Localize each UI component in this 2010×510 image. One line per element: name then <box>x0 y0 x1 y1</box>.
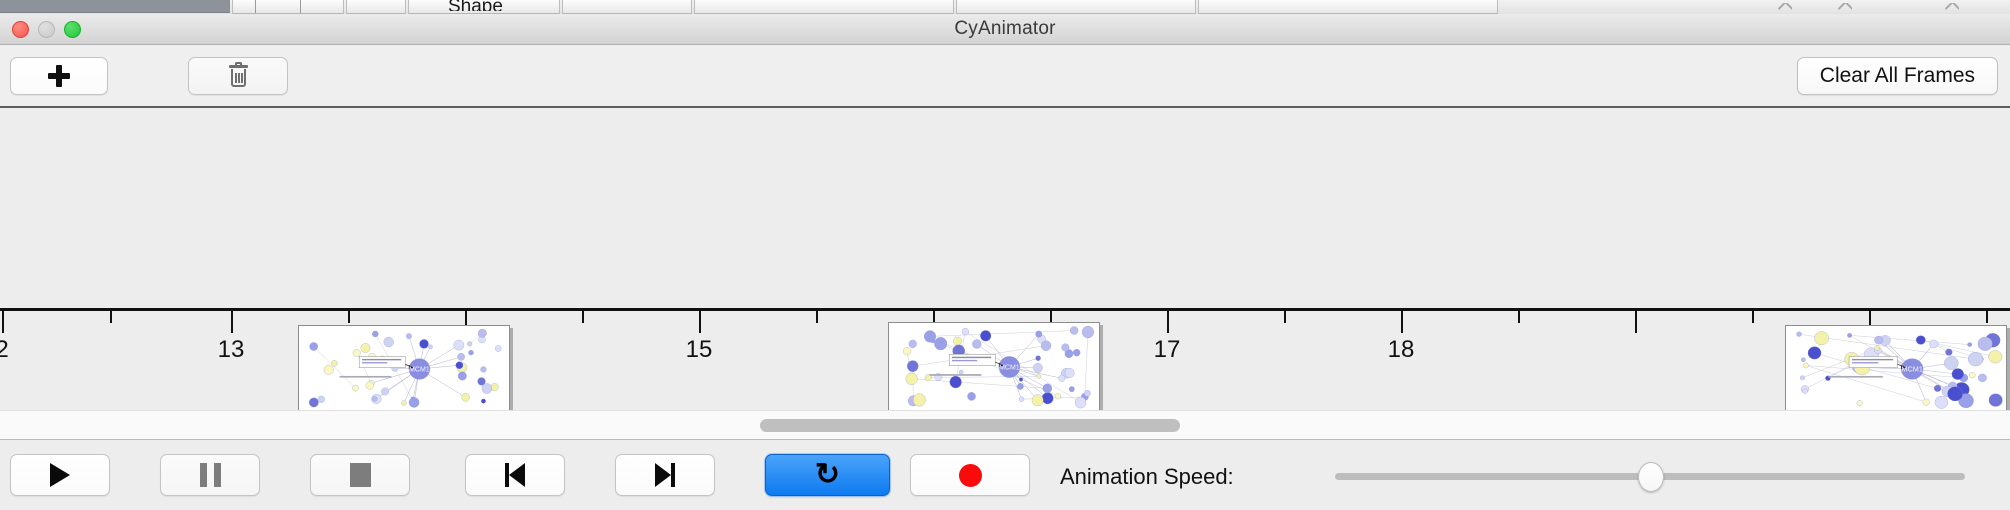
timeline-scrollbar-thumb[interactable] <box>760 419 1180 432</box>
background-arrow-icon <box>1945 3 1959 11</box>
axis-tick-label: 18 <box>1388 336 1415 364</box>
axis-tick-major <box>1167 311 1169 333</box>
timeline-axis <box>0 308 2010 311</box>
background-window-label: Shape <box>448 0 503 11</box>
axis-tick-minor <box>1986 311 1988 323</box>
background-divider <box>255 0 256 13</box>
timeline-frame-thumbnail[interactable]: MCM1 <box>298 325 510 410</box>
add-frame-button[interactable] <box>10 57 108 95</box>
background-window-chip <box>956 0 1196 14</box>
axis-tick-minor <box>348 311 350 323</box>
delete-frame-button[interactable] <box>188 57 288 95</box>
stop-button[interactable] <box>310 454 410 496</box>
background-window-chip <box>562 0 692 14</box>
title-bar: CyAnimator <box>0 14 2010 45</box>
toolbar: Clear All Frames <box>0 46 2010 108</box>
timeline-panel[interactable]: 2131415161718 Seconds MCM1 <box>0 110 2010 410</box>
timeline-frame-thumbnail[interactable]: MCM1 <box>1785 325 2007 410</box>
loop-button[interactable]: ↻ <box>765 454 890 496</box>
axis-tick-label: 2 <box>0 336 9 364</box>
axis-tick-minor <box>816 311 818 323</box>
skip-to-end-button[interactable] <box>615 454 715 496</box>
axis-tick-minor <box>1284 311 1286 323</box>
background-divider <box>300 0 301 13</box>
svg-text:MCM1: MCM1 <box>1901 366 1923 374</box>
record-button[interactable] <box>910 454 1030 496</box>
axis-tick-major <box>1635 311 1637 333</box>
close-button[interactable] <box>12 21 29 38</box>
play-icon <box>50 463 70 487</box>
axis-tick-minor <box>582 311 584 323</box>
background-arrow-icon <box>1838 3 1852 11</box>
loop-icon: ↻ <box>815 460 840 490</box>
minimize-button[interactable] <box>38 21 55 38</box>
window-controls <box>12 14 81 45</box>
axis-tick-major <box>231 311 233 333</box>
axis-tick-major <box>2 311 4 333</box>
animation-speed-slider-thumb[interactable] <box>1638 462 1664 492</box>
axis-tick-major <box>699 311 701 333</box>
axis-tick-major <box>1401 311 1403 333</box>
cyanimator-window: Shape CyAnimator Clear All Frames 21 <box>0 0 2010 510</box>
pause-button[interactable] <box>160 454 260 496</box>
axis-tick-minor <box>110 311 112 323</box>
skip-back-icon <box>503 463 527 487</box>
background-arrow-icon <box>1778 3 1792 11</box>
axis-tick-label: 17 <box>1154 336 1181 364</box>
pause-icon <box>200 463 221 487</box>
background-window-dark <box>0 0 230 13</box>
axis-tick-label: 15 <box>686 336 713 364</box>
skip-to-start-button[interactable] <box>465 454 565 496</box>
stop-icon <box>350 463 371 487</box>
skip-forward-icon <box>653 463 677 487</box>
timeline-frame-thumbnail[interactable]: MCM1 <box>888 322 1100 410</box>
clear-all-frames-button[interactable]: Clear All Frames <box>1797 57 1998 95</box>
window-title: CyAnimator <box>954 18 1055 40</box>
plus-icon <box>48 65 70 87</box>
trash-icon <box>229 65 248 88</box>
transport-bar: ↻ Animation Speed: <box>0 442 2010 510</box>
background-window-chip <box>694 0 954 14</box>
play-button[interactable] <box>10 454 110 496</box>
clear-all-frames-label: Clear All Frames <box>1820 64 1975 88</box>
zoom-button[interactable] <box>64 21 81 38</box>
background-window-chip <box>346 0 406 14</box>
axis-tick-minor <box>1752 311 1754 323</box>
axis-tick-label: 13 <box>218 336 245 364</box>
animation-speed-label: Animation Speed: <box>1060 464 1234 490</box>
svg-text:MCM1: MCM1 <box>409 366 430 373</box>
background-window-chip <box>232 0 344 14</box>
axis-tick-minor <box>1518 311 1520 323</box>
background-windows-strip: Shape <box>0 0 2010 14</box>
background-window-chip <box>1198 0 1498 14</box>
record-icon <box>959 464 982 487</box>
svg-text:MCM1: MCM1 <box>999 364 1020 371</box>
